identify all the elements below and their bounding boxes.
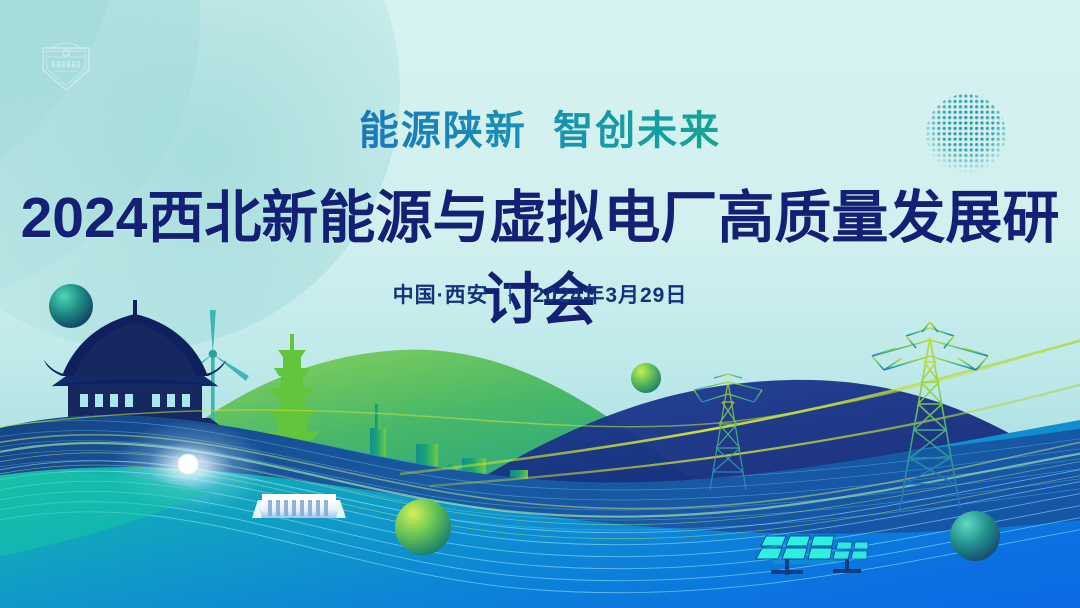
hydro-dam-icon — [252, 494, 346, 518]
light-flare-core — [178, 454, 198, 474]
event-subtitle: 能源陕新 智创未来 — [0, 98, 1080, 156]
shield-emblem-watermark-icon — [33, 32, 99, 98]
scene-illustration — [0, 278, 1080, 608]
event-poster: 能源陕新 智创未来 2024西北新能源与虚拟电厂高质量发展研讨会 中国·西安丨2… — [0, 0, 1080, 608]
